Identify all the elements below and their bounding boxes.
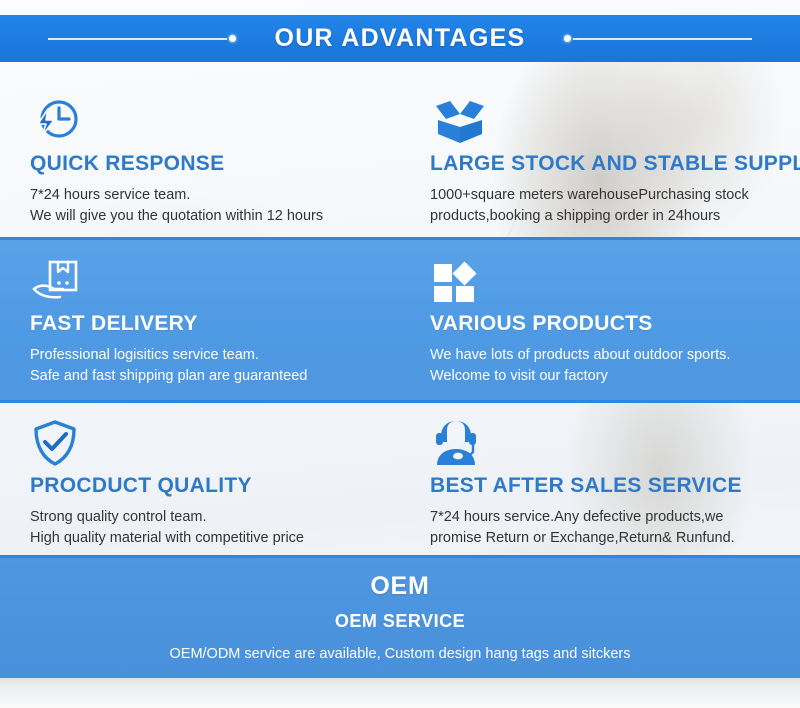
feature-line: products,booking a shipping order in 24h… [430, 206, 778, 227]
feature-description: Professional logisitics service team. Sa… [30, 345, 378, 388]
decoration-line-icon [573, 38, 752, 40]
decoration-dot-icon [229, 35, 236, 42]
feature-description: 7*24 hours service team. We will give yo… [30, 185, 378, 228]
feature-card-after-sales: BEST AFTER SALES SERVICE 7*24 hours serv… [400, 402, 800, 550]
feature-card-various-products: VARIOUS PRODUCTS We have lots of product… [400, 240, 800, 400]
feature-description: 7*24 hours service.Any defective product… [430, 507, 778, 550]
oem-section: OEM OEM SERVICE OEM/ODM service are avai… [0, 555, 800, 678]
oem-subtitle: OEM SERVICE [0, 611, 800, 632]
feature-line: Safe and fast shipping plan are guarante… [30, 366, 378, 387]
header-bar: OUR ADVANTAGES [0, 15, 800, 62]
headset-agent-icon [430, 416, 778, 468]
feature-card-product-quality: PROCDUCT QUALITY Strong quality control … [0, 402, 400, 550]
oem-description: OEM/ODM service are available, Custom de… [0, 646, 800, 662]
feature-line: promise Return or Exchange,Return& Runfu… [430, 528, 778, 549]
feature-line: High quality material with competitive p… [30, 528, 378, 549]
feature-card-quick-response: QUICK RESPONSE 7*24 hours service team. … [0, 80, 400, 232]
decoration-line-icon [48, 38, 227, 40]
feature-description: 1000+square meters warehousePurchasing s… [430, 185, 778, 228]
feature-line: 7*24 hours service team. [30, 185, 378, 206]
feature-title: FAST DELIVERY [30, 312, 378, 336]
feature-description: Strong quality control team. High qualit… [30, 507, 378, 550]
feature-description: We have lots of products about outdoor s… [430, 345, 778, 388]
oem-title: OEM [0, 572, 800, 601]
feature-line: 7*24 hours service.Any defective product… [430, 507, 778, 528]
feature-line: Professional logisitics service team. [30, 345, 378, 366]
feature-title: PROCDUCT QUALITY [30, 474, 378, 498]
feature-line: Strong quality control team. [30, 507, 378, 528]
feature-line: 1000+square meters warehousePurchasing s… [430, 185, 778, 206]
squares-diamond-icon [430, 254, 778, 306]
clock-bolt-icon [30, 94, 378, 146]
header-right-decoration [562, 35, 752, 42]
feature-title: BEST AFTER SALES SERVICE [430, 474, 778, 498]
page-title: OUR ADVANTAGES [274, 24, 525, 53]
feature-title: QUICK RESPONSE [30, 152, 378, 176]
feature-line: We will give you the quotation within 12… [30, 206, 378, 227]
feature-title: VARIOUS PRODUCTS [430, 312, 778, 336]
feature-line: We have lots of products about outdoor s… [430, 345, 778, 366]
footer-strip [0, 678, 800, 708]
feature-card-large-stock: LARGE STOCK AND STABLE SUPPLY 1000+squar… [400, 80, 800, 232]
header-left-decoration [48, 35, 238, 42]
feature-row-1: QUICK RESPONSE 7*24 hours service team. … [0, 80, 800, 232]
feature-row-3: PROCDUCT QUALITY Strong quality control … [0, 402, 800, 550]
advantages-banner: OUR ADVANTAGES QUICK RESPONSE 7*24 hours… [0, 0, 800, 708]
feature-card-fast-delivery: FAST DELIVERY Professional logisitics se… [0, 240, 400, 400]
shield-check-icon [30, 416, 378, 468]
feature-row-2: FAST DELIVERY Professional logisitics se… [0, 237, 800, 403]
feature-title: LARGE STOCK AND STABLE SUPPLY [430, 152, 778, 176]
feature-line: Welcome to visit our factory [430, 366, 778, 387]
open-box-icon [430, 94, 778, 146]
decoration-dot-icon [564, 35, 571, 42]
hand-package-icon [30, 254, 378, 306]
